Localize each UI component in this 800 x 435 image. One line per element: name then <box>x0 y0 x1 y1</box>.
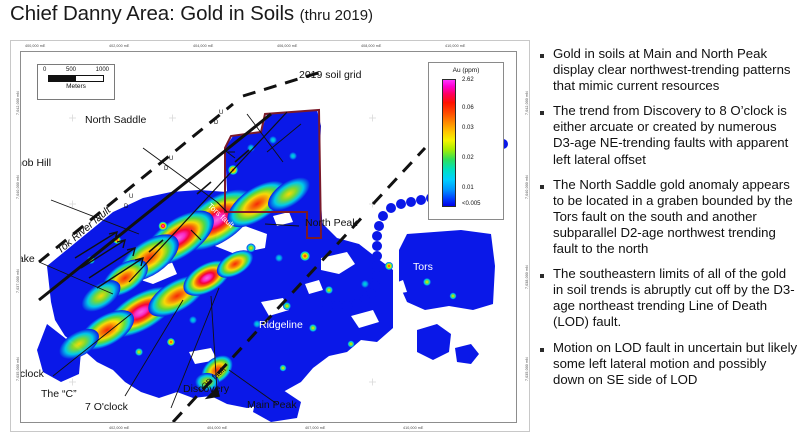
legend-tick-2: 0.03 <box>462 125 474 131</box>
fault-marker-down-3: D <box>124 204 128 210</box>
fault-marker-up-2: U <box>169 156 173 162</box>
scale-bar: 0 500 1000 Meters <box>37 64 115 100</box>
scale-tick-1: 500 <box>66 67 76 73</box>
bullet-text-1: Gold in soils at Main and North Peak dis… <box>553 46 798 94</box>
scale-bar-segment-filled <box>49 76 76 81</box>
scale-tick-0: 0 <box>43 67 46 73</box>
coord-label-bottom-1: 402,000 mE <box>109 426 129 430</box>
fault-marker-down-1: D <box>214 120 218 126</box>
bullet-item-1: Gold in soils at Main and North Peak dis… <box>540 46 798 94</box>
coord-label-right-3: 7,038,000 mN <box>525 265 529 289</box>
coord-label-top-4: 406,000 mE <box>277 44 297 48</box>
bullet-list: Gold in soils at Main and North Peak dis… <box>540 46 798 397</box>
bullet-text-3: The North Saddle gold anomaly appears to… <box>553 177 798 257</box>
map-figure: 400,000 mE 402,000 mE 404,000 mE 406,000… <box>10 40 530 432</box>
fault-marker-up-1: U <box>219 110 223 116</box>
bullet-text-5: Motion on LOD fault in uncertain but lik… <box>553 340 798 388</box>
page-title: Chief Danny Area: Gold in Soils (thru 20… <box>10 2 550 32</box>
coord-label-bottom-3: 407,000 mE <box>305 426 325 430</box>
map-label-8-oclock: 8 O'clock <box>20 369 44 380</box>
coord-label-top-2: 402,000 mE <box>109 44 129 48</box>
legend-tick-5: <0.005 <box>462 201 481 207</box>
fault-marker-down-2: D <box>164 166 168 172</box>
legend-tick-4: 0.01 <box>462 185 474 191</box>
legend-tick-1: 0.06 <box>462 105 474 111</box>
fault-marker-up-3: U <box>129 194 133 200</box>
map-label-knob-hill: Knob Hill <box>20 158 51 169</box>
coord-label-right-4: 7,035,000 mN <box>525 357 529 381</box>
map-label-north-peak: North Peak <box>305 218 358 229</box>
bullet-item-2: The trend from Discovery to 8 O’clock is… <box>540 103 798 167</box>
map-label-north-saddle: North Saddle <box>85 115 146 126</box>
map-label-main-peak: Main Peak <box>247 400 297 411</box>
coord-label-top-3: 404,000 mE <box>193 44 213 48</box>
scale-bar-segment-empty <box>76 76 103 81</box>
legend-color-ramp <box>442 79 456 207</box>
map-label-2019-soil-grid: 2019 soil grid <box>299 70 361 81</box>
map-label-ridgeline: Ridgeline <box>259 320 303 331</box>
coord-label-right-1: 7,042,000 mN <box>525 91 529 115</box>
coord-label-top-5: 408,000 mE <box>361 44 381 48</box>
scale-bar-ticks: 0 500 1000 <box>38 67 114 73</box>
map-neatline: 0 500 1000 Meters Au (ppm) 2.62 0.06 0.0… <box>20 51 517 423</box>
bullet-text-4: The southeastern limits of all of the go… <box>553 266 798 330</box>
coord-label-top-1: 400,000 mE <box>25 44 45 48</box>
scale-tick-2: 1000 <box>96 67 109 73</box>
bullet-marker-icon <box>540 177 553 257</box>
legend-body: 2.62 0.06 0.03 0.02 0.01 <0.005 <box>429 77 503 212</box>
bullet-text-2: The trend from Discovery to 8 O’clock is… <box>553 103 798 167</box>
bullet-marker-icon <box>540 103 553 167</box>
bullet-marker-icon <box>540 46 553 94</box>
bullet-item-3: The North Saddle gold anomaly appears to… <box>540 177 798 257</box>
coord-label-bottom-2: 404,000 mE <box>207 426 227 430</box>
bullet-item-4: The southeastern limits of all of the go… <box>540 266 798 330</box>
page-title-main: Chief Danny Area: Gold in Soils <box>10 2 300 25</box>
legend-tick-3: 0.02 <box>462 155 474 161</box>
map-label-snake: Snake <box>20 254 35 265</box>
coord-label-right-2: 7,040,000 mN <box>525 175 529 199</box>
slide-root: Chief Danny Area: Gold in Soils (thru 20… <box>0 0 800 435</box>
page-title-sub: (thru 2019) <box>300 7 373 24</box>
map-label-7-oclock: 7 O'clock <box>85 402 128 413</box>
map-label-the-c: The “C” <box>41 389 77 400</box>
scale-bar-graphic <box>48 75 104 82</box>
legend-title: Au (ppm) <box>429 67 503 74</box>
bullet-item-5: Motion on LOD fault in uncertain but lik… <box>540 340 798 388</box>
coord-label-bottom-4: 410,000 mE <box>403 426 423 430</box>
legend-tick-0: 2.62 <box>462 77 474 83</box>
legend: Au (ppm) 2.62 0.06 0.03 0.02 0.01 <0.005 <box>428 62 504 220</box>
bullet-marker-icon <box>540 266 553 330</box>
bullet-marker-icon <box>540 340 553 388</box>
map-label-tors: Tors <box>413 262 433 273</box>
scale-bar-units: Meters <box>38 83 114 90</box>
map-label-discovery: Discovery <box>183 384 229 395</box>
coord-label-top-6: 410,000 mE <box>445 44 465 48</box>
